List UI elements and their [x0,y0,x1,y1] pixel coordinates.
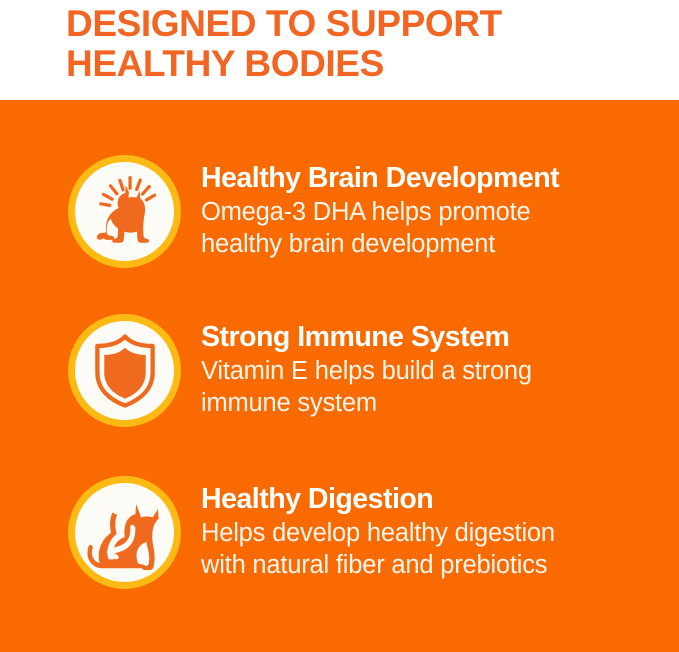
benefit-description: Omega-3 DHA helps promote healthy brain … [201,196,671,260]
page-title: DESIGNED TO SUPPORT HEALTHY BODIES [66,4,666,84]
benefit-icon-badge [68,476,181,589]
benefit-description: Helps develop healthy digestion with nat… [201,517,671,581]
benefit-icon-badge [68,314,181,427]
header-band: DESIGNED TO SUPPORT HEALTHY BODIES [0,0,679,100]
benefit-text-block: Healthy Brain Development Omega-3 DHA he… [201,162,671,260]
benefits-body: Healthy Brain Development Omega-3 DHA he… [0,100,679,652]
benefit-title: Healthy Brain Development [201,162,671,195]
benefit-description: Vitamin E helps build a strong immune sy… [201,355,671,419]
benefit-text-block: Strong Immune System Vitamin E helps bui… [201,321,671,419]
product-benefits-panel: DESIGNED TO SUPPORT HEALTHY BODIES [0,0,679,652]
benefit-text-block: Healthy Digestion Helps develop healthy … [201,483,671,581]
shield-icon [90,333,160,409]
cat-digestion-arrow-icon [85,496,165,570]
benefit-title: Strong Immune System [201,321,671,354]
benefit-title: Healthy Digestion [201,483,671,516]
cat-brain-rays-icon [86,173,164,251]
benefit-icon-badge [68,155,181,268]
